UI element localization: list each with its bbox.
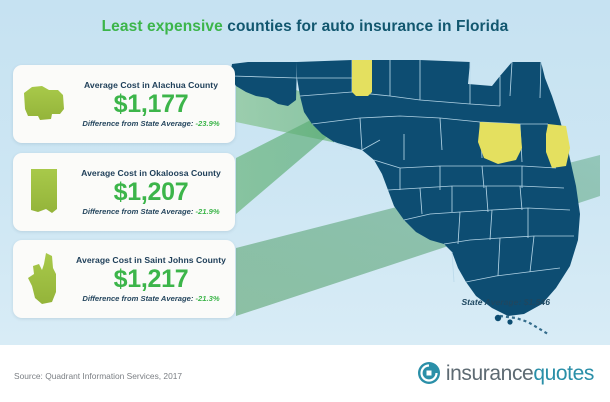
card-text: Average Cost in Alachua County $1,177 Di… xyxy=(75,81,235,128)
card-difference-value: -21.9% xyxy=(196,207,220,216)
county-okaloosa xyxy=(352,60,372,96)
county-saintjohns xyxy=(546,124,570,168)
card-difference-value: -21.3% xyxy=(196,294,220,303)
saint-johns-county-shape-icon xyxy=(13,243,75,315)
logo-word-insurance: insurance xyxy=(446,362,533,385)
card-price: $1,207 xyxy=(75,180,227,205)
logo-wordmark: insurancequotes xyxy=(446,363,594,384)
county-card-okaloosa[interactable]: Average Cost in Okaloosa County $1,207 D… xyxy=(13,153,235,231)
card-difference: Difference from State Average: -21.9% xyxy=(75,208,227,216)
okaloosa-county-shape-icon xyxy=(13,156,75,228)
card-label: Average Cost in Okaloosa County xyxy=(75,169,227,178)
card-difference: Difference from State Average: -21.3% xyxy=(75,295,227,303)
card-text: Average Cost in Saint Johns County $1,21… xyxy=(75,256,235,303)
card-label: Average Cost in Alachua County xyxy=(75,81,227,90)
source-citation: Source: Quadrant Information Services, 2… xyxy=(14,371,182,381)
county-alachua xyxy=(478,122,522,164)
card-difference: Difference from State Average: -23.9% xyxy=(75,120,227,128)
insurancequotes-logo-icon xyxy=(417,361,441,385)
county-card-alachua[interactable]: Average Cost in Alachua County $1,177 Di… xyxy=(13,65,235,143)
card-price: $1,217 xyxy=(75,267,227,292)
county-card-saint-johns[interactable]: Average Cost in Saint Johns County $1,21… xyxy=(13,240,235,318)
state-average-label: State Average: $1,546 xyxy=(461,297,550,307)
card-text: Average Cost in Okaloosa County $1,207 D… xyxy=(75,169,235,216)
card-difference-label: Difference from State Average: xyxy=(82,207,193,216)
card-label: Average Cost in Saint Johns County xyxy=(75,256,227,265)
alachua-county-shape-icon xyxy=(13,68,75,140)
card-price: $1,177 xyxy=(75,92,227,117)
card-difference-value: -23.9% xyxy=(196,119,220,128)
footer: Source: Quadrant Information Services, 2… xyxy=(0,345,610,402)
card-difference-label: Difference from State Average: xyxy=(82,294,193,303)
infographic-root: Least expensive counties for auto insura… xyxy=(0,0,610,402)
logo-word-quotes: quotes xyxy=(533,362,594,385)
insurancequotes-logo[interactable]: insurancequotes xyxy=(417,361,594,385)
card-difference-label: Difference from State Average: xyxy=(82,119,193,128)
